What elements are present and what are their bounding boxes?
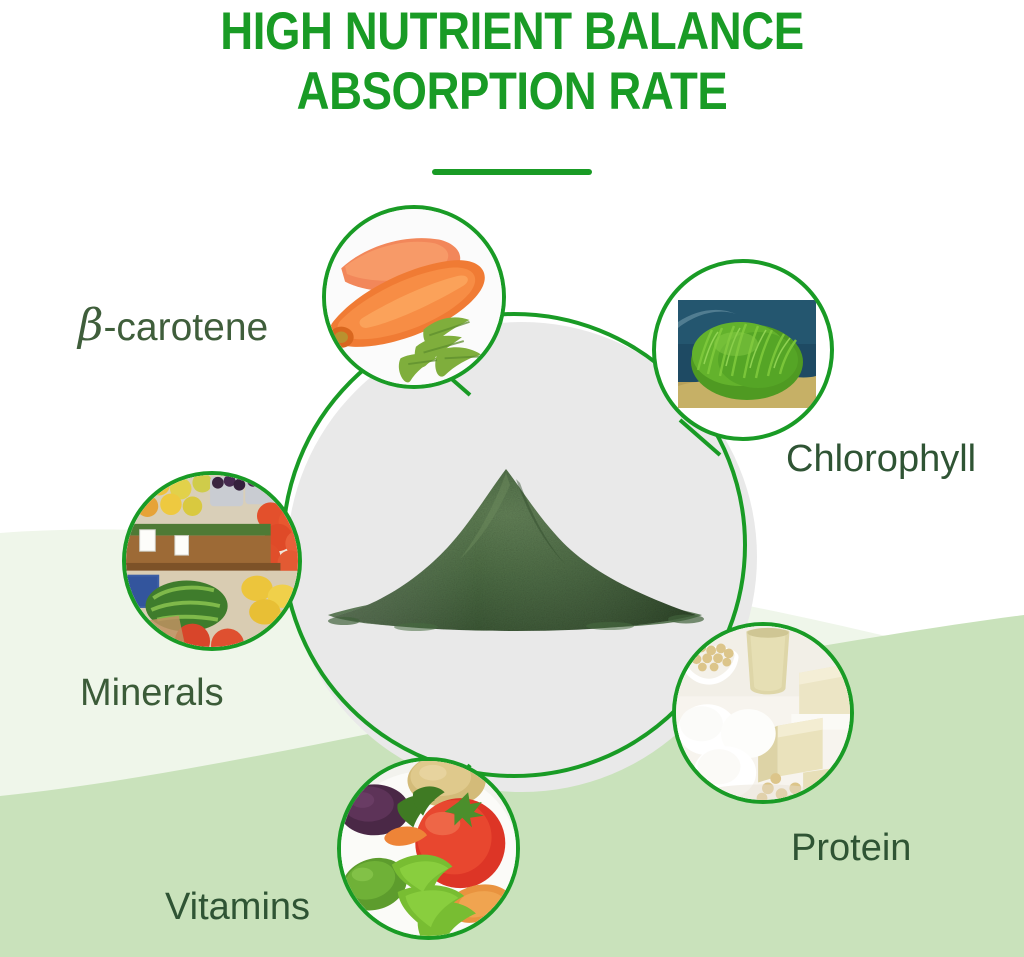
label-chlorophyll: Chlorophyll xyxy=(786,438,976,480)
label-carotene-text: -carotene xyxy=(103,306,268,349)
page-title: HIGH NUTRIENT BALANCE ABSORPTION RATE xyxy=(0,2,1024,122)
node-carotene[interactable] xyxy=(322,205,506,389)
carotene-photo xyxy=(324,207,504,387)
label-protein: Protein xyxy=(791,827,911,869)
protein-photo xyxy=(674,624,852,802)
node-chlorophyll[interactable] xyxy=(652,259,834,441)
infographic-poster: HIGH NUTRIENT BALANCE ABSORPTION RATE xyxy=(0,0,1024,957)
vitamins-photo xyxy=(339,759,518,938)
title-line-1: HIGH NUTRIENT BALANCE xyxy=(72,2,953,62)
label-carotene: β-carotene xyxy=(78,305,268,349)
minerals-photo xyxy=(124,473,300,649)
node-protein[interactable] xyxy=(672,622,854,804)
chlorophyll-photo xyxy=(678,300,816,408)
node-vitamins[interactable] xyxy=(337,757,520,940)
spirulina-powder-image xyxy=(320,455,710,640)
title-divider xyxy=(432,169,592,175)
label-vitamins: Vitamins xyxy=(165,886,310,928)
beta-symbol: β xyxy=(78,300,103,351)
title-line-2: ABSORPTION RATE xyxy=(72,62,953,122)
node-minerals[interactable] xyxy=(122,471,302,651)
label-minerals: Minerals xyxy=(80,672,224,714)
